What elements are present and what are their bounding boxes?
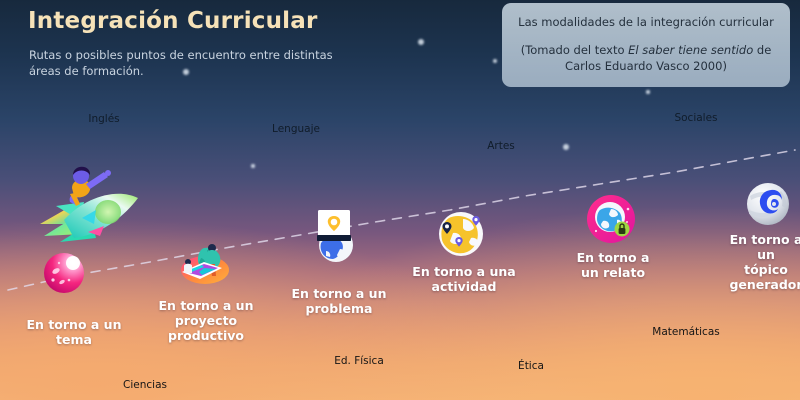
pink-globe-lock-icon[interactable] xyxy=(584,192,638,246)
pink-planet-icon[interactable] xyxy=(40,249,88,297)
silver-sphere-icon[interactable] xyxy=(743,179,793,229)
slide-canvas: Integración Curricular Rutas o posibles … xyxy=(0,0,800,400)
area-label-ciencias: Ciencias xyxy=(123,379,167,391)
area-label-sociales: Sociales xyxy=(674,112,717,124)
team-project-icon[interactable] xyxy=(174,232,236,294)
node-label-relato: En torno a un relato xyxy=(577,250,650,280)
node-label-proyecto: En torno a un proyecto productivo xyxy=(159,298,254,343)
node-label-topico: En torno a un tópico generador xyxy=(729,232,800,292)
area-label-tica: Ética xyxy=(518,360,544,372)
node-label-actividad: En torno a una actividad xyxy=(412,264,515,294)
area-label-artes: Artes xyxy=(487,140,515,152)
area-label-ingl-s: Inglés xyxy=(88,113,119,125)
node-label-problema: En torno a un problema xyxy=(292,286,387,316)
area-label-lenguaje: Lenguaje xyxy=(272,123,320,135)
rocket-rider-illustration xyxy=(34,158,144,248)
map-card-globe-icon[interactable] xyxy=(304,205,364,265)
area-label-matem-ticas: Matemáticas xyxy=(652,326,719,338)
node-label-tema: En torno a un tema xyxy=(27,317,122,347)
area-label-ed-f-sica: Ed. Física xyxy=(334,355,384,367)
yellow-globe-pins-icon[interactable] xyxy=(435,208,487,260)
